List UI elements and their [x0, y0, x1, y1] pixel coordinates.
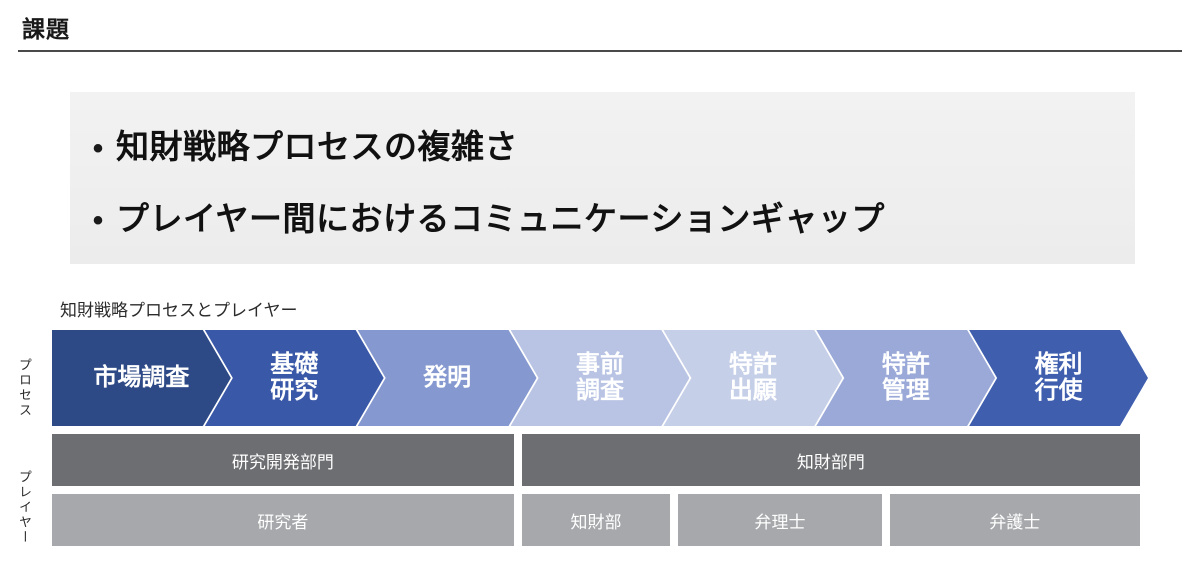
process-player-diagram: プロセス プレイヤー 市場調査基礎研究発明事前調査特許出願特許管理権利行使 研究…	[0, 330, 1200, 580]
row-label-player: プレイヤー	[12, 442, 34, 572]
process-chevron-row: 市場調査基礎研究発明事前調査特許出願特許管理権利行使	[52, 330, 1148, 426]
process-step-label: 特許出願	[729, 352, 777, 404]
player-box-label: 知財部門	[797, 448, 865, 473]
issue-item-1: • 知財戦略プロセスの複雑さ	[80, 120, 518, 168]
player-box-label: 弁護士	[989, 508, 1040, 533]
player-department-row: 研究開発部門知財部門	[52, 434, 1148, 486]
player-box-label: 研究者	[257, 508, 308, 533]
process-step-3[interactable]: 発明	[358, 330, 537, 426]
process-step-label: 基礎研究	[270, 352, 318, 404]
process-step-1[interactable]: 市場調査	[52, 330, 231, 426]
player-box-roles-2[interactable]: 知財部	[522, 494, 671, 546]
issues-callout-box: • 知財戦略プロセスの複雑さ • プレイヤー間におけるコミュニケーションギャップ	[70, 92, 1135, 264]
process-step-label: 発明	[423, 365, 471, 391]
player-box-roles-3[interactable]: 弁理士	[678, 494, 881, 546]
issue-item-1-label: 知財戦略プロセスの複雑さ	[116, 120, 518, 168]
bullet-dot-icon: •	[80, 206, 116, 236]
process-step-6[interactable]: 特許管理	[816, 330, 995, 426]
process-step-5[interactable]: 特許出願	[663, 330, 842, 426]
title-divider	[18, 50, 1182, 52]
player-role-row: 研究者知財部弁理士弁護士	[52, 494, 1148, 546]
player-box-roles-4[interactable]: 弁護士	[890, 494, 1140, 546]
player-box-label: 弁理士	[754, 508, 805, 533]
process-step-label: 市場調査	[93, 365, 189, 391]
bullet-dot-icon: •	[80, 134, 116, 164]
player-box-departments-2[interactable]: 知財部門	[522, 434, 1140, 486]
player-box-departments-1[interactable]: 研究開発部門	[52, 434, 514, 486]
page-title: 課題	[22, 10, 70, 44]
process-step-label: 特許管理	[882, 352, 930, 404]
process-step-label: 事前調査	[576, 352, 624, 404]
process-step-label: 権利行使	[1035, 352, 1083, 404]
player-box-label: 研究開発部門	[232, 448, 334, 473]
process-step-4[interactable]: 事前調査	[511, 330, 690, 426]
diagram-caption: 知財戦略プロセスとプレイヤー	[60, 296, 298, 321]
issue-item-2-label: プレイヤー間におけるコミュニケーションギャップ	[116, 192, 885, 240]
row-label-process: プロセス	[12, 338, 34, 438]
process-step-2[interactable]: 基礎研究	[205, 330, 384, 426]
player-box-label: 知財部	[570, 508, 621, 533]
player-box-roles-1[interactable]: 研究者	[52, 494, 514, 546]
issue-item-2: • プレイヤー間におけるコミュニケーションギャップ	[80, 192, 885, 240]
process-step-7[interactable]: 権利行使	[969, 330, 1148, 426]
